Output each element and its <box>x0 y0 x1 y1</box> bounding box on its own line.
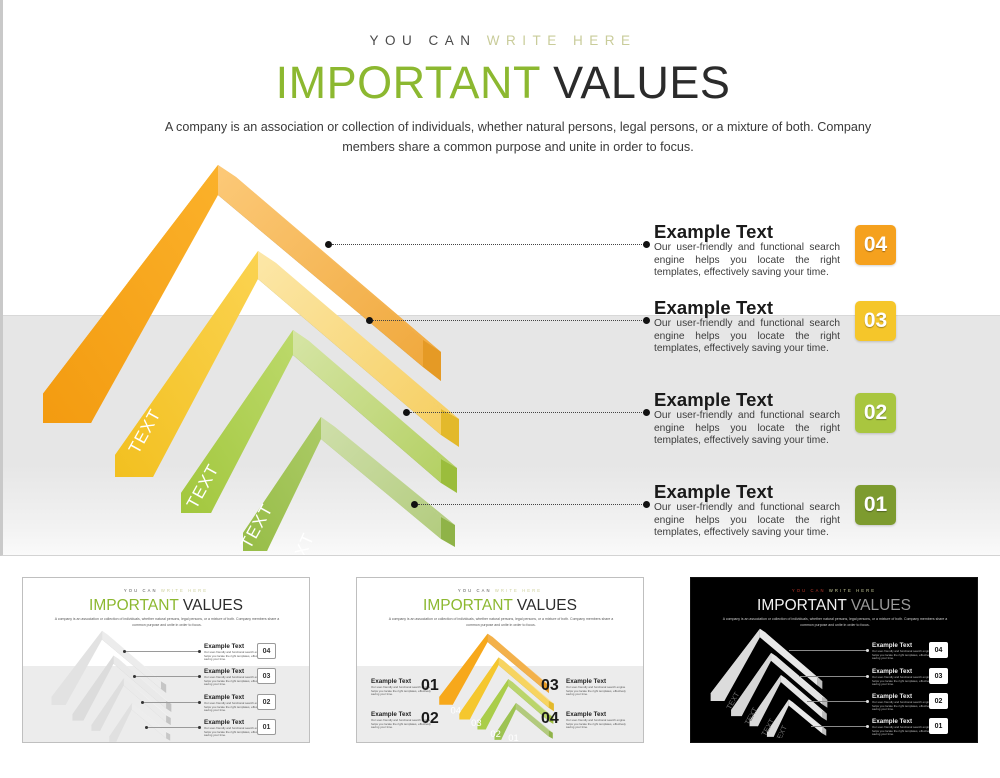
connector-dot-left-01 <box>411 501 418 508</box>
connector-dot-left-04 <box>325 241 332 248</box>
connector-dot-left-03 <box>366 317 373 324</box>
thumb2-row-03: 03 Example Text Our user-friendly and fu… <box>357 686 643 687</box>
thumb3-kicker: YOU CAN WRITE HERE <box>691 588 977 593</box>
thumb1-line-01 <box>148 727 198 728</box>
thumb1-title-01: Example Text <box>204 719 244 726</box>
kicker-dark-text: YOU CAN <box>369 33 476 48</box>
thumb1-badge-04[interactable]: 04 <box>257 643 276 659</box>
thumb3-dot-right-01 <box>866 725 869 728</box>
connector-dot-right-02 <box>643 409 650 416</box>
thumb1-title-dark: VALUES <box>183 597 243 614</box>
thumb3-row-04: Example Text Our user-friendly and funct… <box>691 650 977 651</box>
thumb2-subtitle: A company is an association or collectio… <box>387 616 615 628</box>
thumb2-chevron-label-02: 02 <box>490 729 500 739</box>
row-body-04: Our user-friendly and functional search … <box>654 242 840 280</box>
chevron-layer-01 <box>243 417 455 551</box>
thumb2-row-04: 04 Example Text Our user-friendly and fu… <box>357 719 643 720</box>
connector-line-02 <box>410 412 644 413</box>
thumb1-badge-03[interactable]: 03 <box>257 668 276 684</box>
thumb1-dot-right-02 <box>198 701 201 704</box>
thumb3-chevron-graphic: TEXT TEXT TEXT TEXT <box>705 626 840 738</box>
chevron-label-01: TEXT <box>281 530 318 555</box>
thumb1-chevron-graphic <box>45 628 185 743</box>
thumb2-body-03: Our user-friendly and functional search … <box>566 686 630 697</box>
connector-line-04 <box>332 244 644 245</box>
row-title-01: Example Text <box>654 481 773 503</box>
thumb3-body-01: Our user-friendly and functional search … <box>872 726 936 737</box>
thumb1-title-02: Example Text <box>204 694 244 701</box>
thumb2-body-04: Our user-friendly and functional search … <box>566 719 630 730</box>
slide-subtitle: A company is an association or collectio… <box>163 117 873 157</box>
thumb3-title-accent: IMPORTANT <box>757 597 847 614</box>
thumb1-line-02 <box>144 702 198 703</box>
connector-dot-right-03 <box>643 317 650 324</box>
thumb1-title: IMPORTANT VALUES <box>23 597 309 615</box>
thumb3-title-01: Example Text <box>872 718 912 725</box>
thumb3-badge-02[interactable]: 02 <box>929 693 948 709</box>
row-body-02: Our user-friendly and functional search … <box>654 410 840 448</box>
thumb1-dot-right-01 <box>198 726 201 729</box>
thumb3-title-02: Example Text <box>872 693 912 700</box>
thumb2-kicker-accent: WRITE HERE <box>495 588 542 593</box>
thumb1-line-04 <box>126 651 198 652</box>
status-badge-02[interactable]: 02 <box>855 393 896 433</box>
status-badge-03[interactable]: 03 <box>855 301 896 341</box>
main-slide[interactable]: YOU CAN WRITE HERE IMPORTANT VALUES A co… <box>0 0 1000 556</box>
thumb3-title-04: Example Text <box>872 642 912 649</box>
thumb3-kicker-accent: WRITE HERE <box>829 588 876 593</box>
thumb2-title-dark: VALUES <box>517 597 577 614</box>
thumb1-dot-right-03 <box>198 675 201 678</box>
thumb3-dot-right-02 <box>866 700 869 703</box>
page-title: IMPORTANT VALUES <box>3 57 1000 109</box>
thumbnail-centered-variant[interactable]: YOU CAN WRITE HERE IMPORTANT VALUES A co… <box>356 577 644 743</box>
thumb3-body-04: Our user-friendly and functional search … <box>872 650 936 661</box>
thumb2-num-03: 03 <box>541 677 559 695</box>
thumb1-line-03 <box>136 676 198 677</box>
thumb1-title-accent: IMPORTANT <box>89 597 179 614</box>
thumb1-title-03: Example Text <box>204 668 244 675</box>
thumb3-line-04 <box>789 650 867 651</box>
thumb1-badge-01[interactable]: 01 <box>257 719 276 735</box>
thumb2-chevron-label-04: 04 <box>451 706 461 716</box>
thumb3-title: IMPORTANT VALUES <box>691 597 977 615</box>
thumb3-badge-01[interactable]: 01 <box>929 718 948 734</box>
row-title-03: Example Text <box>654 297 773 319</box>
thumb2-kicker: YOU CAN WRITE HERE <box>357 588 643 593</box>
thumbnail-dark-variant[interactable]: YOU CAN WRITE HERE IMPORTANT VALUES A co… <box>690 577 978 743</box>
thumb3-line-02 <box>807 701 867 702</box>
thumb1-row-04: Example Text Our user-friendly and funct… <box>23 651 309 652</box>
kicker-accent-text: WRITE HERE <box>487 33 637 48</box>
connector-line-03 <box>373 320 644 321</box>
thumbnail-strip: YOU CAN WRITE HERE IMPORTANT VALUES A co… <box>0 556 1000 778</box>
thumb2-title-02: Example Text <box>371 711 411 718</box>
title-accent-word: IMPORTANT <box>276 57 541 108</box>
thumb3-row-03: Example Text Our user-friendly and funct… <box>691 676 977 677</box>
thumb1-dot-right-04 <box>198 650 201 653</box>
thumb3-row-02: Example Text Our user-friendly and funct… <box>691 701 977 702</box>
thumbnail-grayscale-variant[interactable]: YOU CAN WRITE HERE IMPORTANT VALUES A co… <box>22 577 310 743</box>
status-badge-01[interactable]: 01 <box>855 485 896 525</box>
thumb2-title-accent: IMPORTANT <box>423 597 513 614</box>
content-row-04: Example Text Our user-friendly and funct… <box>3 244 1000 245</box>
thumb2-chevron-label-01: 01 <box>508 733 518 741</box>
thumb1-kicker: YOU CAN WRITE HERE <box>23 588 309 593</box>
title-dark-word: VALUES <box>553 57 730 108</box>
connector-dot-left-02 <box>403 409 410 416</box>
thumb3-title-dark: VALUES <box>851 597 911 614</box>
thumb3-body-03: Our user-friendly and functional search … <box>872 676 936 687</box>
thumb1-row-02: Example Text Our user-friendly and funct… <box>23 702 309 703</box>
slide-kicker: YOU CAN WRITE HERE <box>3 33 1000 48</box>
content-row-03: Example Text Our user-friendly and funct… <box>3 320 1000 321</box>
thumb3-body-02: Our user-friendly and functional search … <box>872 701 936 712</box>
thumb1-subtitle: A company is an association or collectio… <box>53 616 281 628</box>
thumb3-title-03: Example Text <box>872 668 912 675</box>
thumb1-row-01: Example Text Our user-friendly and funct… <box>23 727 309 728</box>
thumb1-kicker-dark: YOU CAN <box>124 588 158 593</box>
thumb3-line-01 <box>811 726 867 727</box>
thumb1-row-03: Example Text Our user-friendly and funct… <box>23 676 309 677</box>
thumb2-title-03: Example Text <box>566 678 606 685</box>
thumb1-title-04: Example Text <box>204 643 244 650</box>
thumb2-kicker-dark: YOU CAN <box>458 588 492 593</box>
thumb3-row-01: Example Text Our user-friendly and funct… <box>691 726 977 727</box>
thumb3-kicker-dark: YOU CAN <box>792 588 826 593</box>
thumb1-kicker-accent: WRITE HERE <box>161 588 208 593</box>
thumb3-badge-03[interactable]: 03 <box>929 668 948 684</box>
status-badge-04[interactable]: 04 <box>855 225 896 265</box>
row-title-02: Example Text <box>654 389 773 411</box>
thumb2-title-04: Example Text <box>566 711 606 718</box>
row-title-04: Example Text <box>654 221 773 243</box>
content-row-02: Example Text Our user-friendly and funct… <box>3 412 1000 413</box>
row-body-03: Our user-friendly and functional search … <box>654 318 840 356</box>
row-body-01: Our user-friendly and functional search … <box>654 502 840 540</box>
connector-dot-right-01 <box>643 501 650 508</box>
thumb3-dot-right-04 <box>866 649 869 652</box>
thumb1-badge-02[interactable]: 02 <box>257 694 276 710</box>
connector-line-01 <box>418 504 644 505</box>
thumb2-title: IMPORTANT VALUES <box>357 597 643 615</box>
chevron-pyramid-graphic[interactable]: TEXT TEXT TEXT TEXT <box>43 155 483 555</box>
thumb3-line-03 <box>799 676 867 677</box>
thumb3-dot-right-03 <box>866 675 869 678</box>
connector-dot-right-04 <box>643 241 650 248</box>
thumb2-num-04: 04 <box>541 710 559 728</box>
thumb3-badge-04[interactable]: 04 <box>929 642 948 658</box>
content-row-01: Example Text Our user-friendly and funct… <box>3 504 1000 505</box>
thumb2-title-01: Example Text <box>371 678 411 685</box>
